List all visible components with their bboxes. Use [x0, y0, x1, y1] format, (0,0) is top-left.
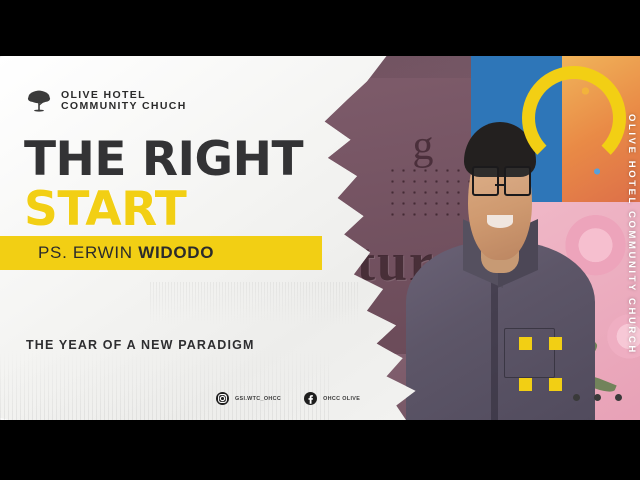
social-handles-row: GSI.WTC_OHCC OHCC OLIVE: [216, 392, 360, 405]
facebook-icon: [304, 392, 317, 405]
yellow-square-decor: [549, 378, 562, 391]
glasses-lens-right: [504, 166, 531, 196]
glasses-bridge: [495, 184, 504, 186]
video-frame: g ature: [0, 0, 640, 480]
speaker-name-prefix: PS. ERWIN: [38, 243, 138, 262]
three-dots-indicator: [573, 394, 622, 401]
social-item-facebook: OHCC OLIVE: [304, 392, 360, 405]
logo-text-block: OLIVE HOTEL COMMUNITY CHUCH: [61, 90, 187, 113]
glasses-lens-left: [472, 166, 499, 196]
dot-2: [594, 394, 601, 401]
title-line-1: THE RIGHT: [24, 136, 303, 183]
olive-tree-icon: [26, 88, 52, 114]
yellow-square-decor: [549, 337, 562, 350]
instagram-handle: GSI.WTC_OHCC: [235, 396, 281, 402]
speaker-name-surname: WIDODO: [138, 243, 214, 262]
vertical-church-name: OLIVE HOTEL COMMUNITY CHURCH: [626, 114, 637, 355]
presentation-slide: g ature: [0, 56, 640, 420]
instagram-icon: [216, 392, 229, 405]
social-item-instagram: GSI.WTC_OHCC: [216, 392, 281, 405]
dot-1: [573, 394, 580, 401]
speaker-smile: [487, 215, 513, 228]
dot-3: [615, 394, 622, 401]
yellow-arc-icon: [522, 66, 626, 170]
title-line-2: START: [24, 186, 186, 233]
tagline-text: THE YEAR OF A NEW PARADIGM: [26, 338, 255, 352]
paper-streak-texture: [0, 350, 330, 420]
logo-line-2: COMMUNITY CHUCH: [61, 101, 187, 112]
speaker-name: PS. ERWIN WIDODO: [38, 243, 214, 263]
paper-streak-texture-secondary: [150, 282, 360, 324]
letterbox-bar-top: [0, 0, 640, 56]
church-logo: OLIVE HOTEL COMMUNITY CHUCH: [26, 88, 187, 114]
yellow-square-decor: [519, 337, 532, 350]
facebook-handle: OHCC OLIVE: [323, 396, 360, 402]
yellow-square-decor: [519, 378, 532, 391]
letterbox-bar-bottom: [0, 420, 640, 480]
